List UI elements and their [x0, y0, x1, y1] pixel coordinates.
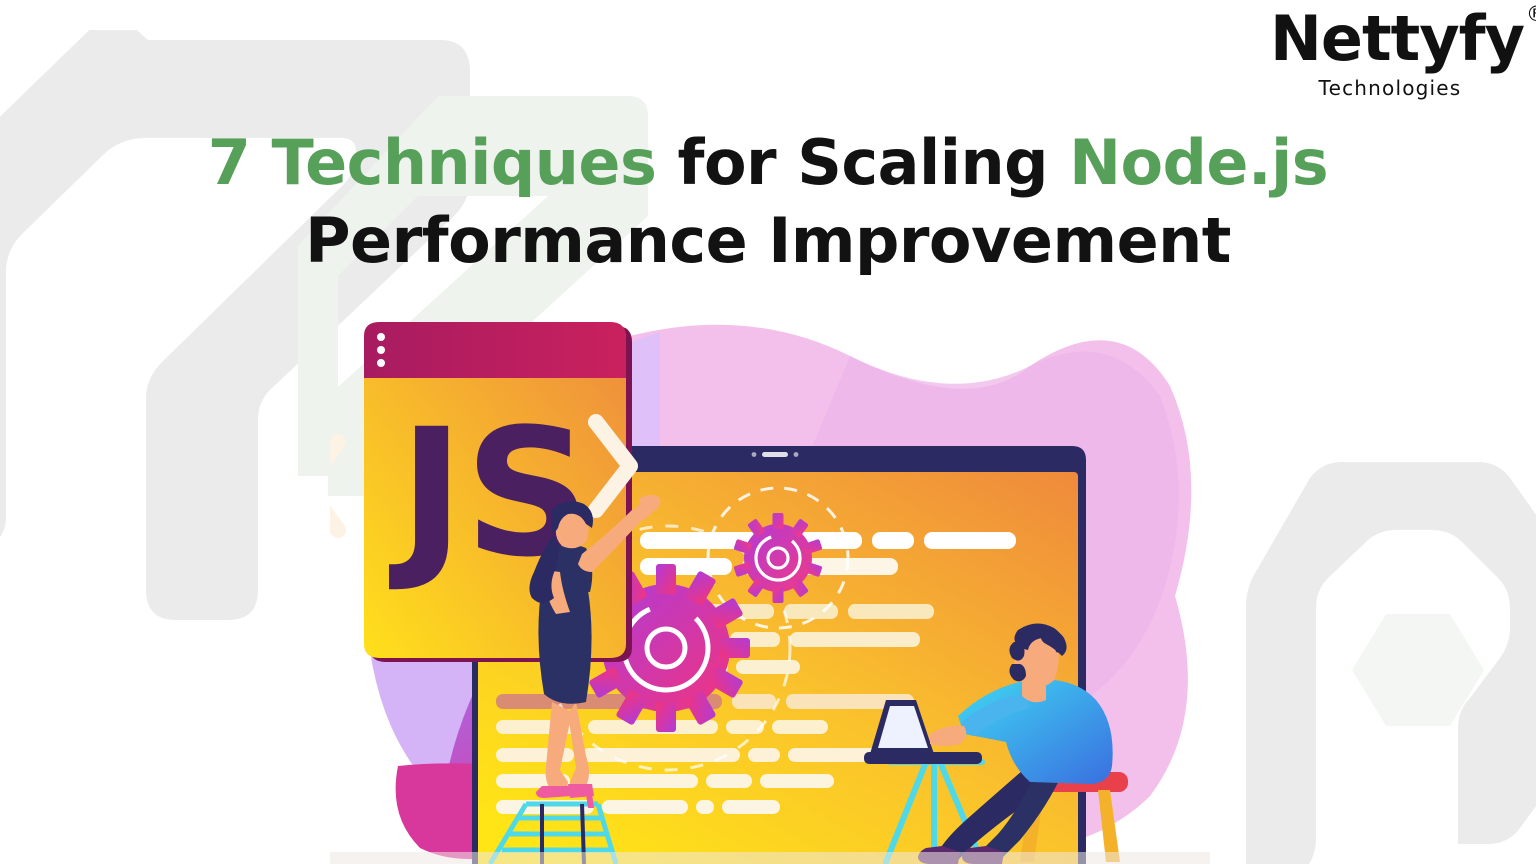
poster-canvas: Nettyfy® Technologies 7 Techniques for S… — [0, 0, 1536, 864]
page-title: 7 Techniques for Scaling Node.js Perform… — [0, 124, 1536, 280]
logo-name: Nettyfy — [1270, 2, 1524, 75]
hero-illustration: JS — [330, 296, 1210, 864]
bracket-left-icon — [330, 442, 338, 530]
headline-accent-nodejs: Node.js — [1069, 126, 1328, 199]
registered-trademark-icon: ® — [1526, 4, 1536, 25]
window-dots-icon — [377, 333, 385, 367]
logo-tagline: Technologies — [1270, 76, 1510, 100]
headline-plain-for-scaling: for Scaling — [656, 126, 1069, 199]
logo-wordmark: Nettyfy® — [1270, 8, 1524, 70]
watermark-bottom-right-nettyfy-mark — [1210, 418, 1536, 864]
headline-accent-techniques: 7 Techniques — [208, 126, 657, 199]
headline-line-1: 7 Techniques for Scaling Node.js — [0, 124, 1536, 202]
brand-logo: Nettyfy® Technologies — [1270, 8, 1510, 100]
headline-line-2: Performance Improvement — [0, 202, 1536, 280]
